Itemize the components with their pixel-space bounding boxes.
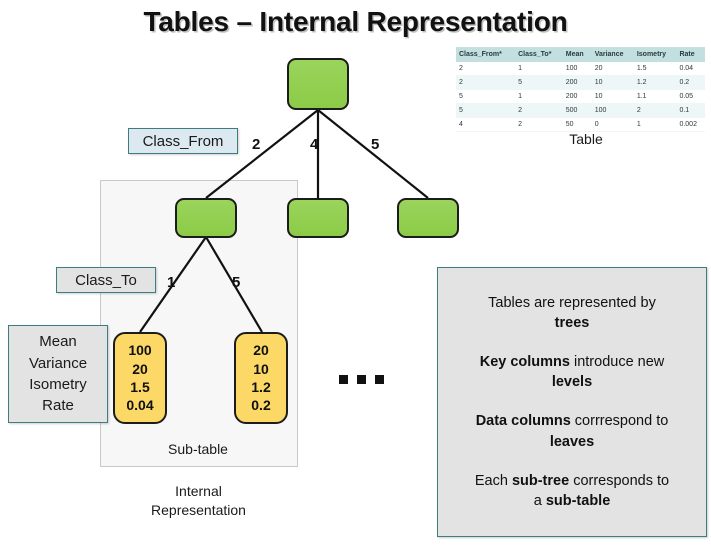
table-row: 2 1 100 20 1.5 0.04: [456, 62, 705, 76]
table-header-cell: Isometry: [634, 47, 677, 62]
summary-emphasis: Key columns: [480, 354, 570, 370]
summary-text: Tables are represented by: [488, 295, 656, 311]
summary-box: Tables are represented by trees Key colu…: [437, 267, 707, 537]
leaf-node-1[interactable]: 20 10 1.2 0.2: [234, 332, 288, 424]
page-title: Tables – Internal Representation: [0, 6, 711, 38]
table-header-cell: Rate: [676, 47, 705, 62]
caption-table: Table: [521, 131, 651, 147]
table-row: 5 2 500 100 2 0.1: [456, 104, 705, 118]
edge-label-sub-0: 1: [167, 274, 175, 291]
table-cell: 0.002: [676, 118, 705, 132]
summary-text: corrrespond to: [571, 413, 669, 429]
table-cell: 2: [515, 118, 563, 132]
table-cell: 5: [515, 76, 563, 90]
summary-emphasis: levels: [552, 374, 592, 390]
table-cell: 500: [563, 104, 592, 118]
table-cell: 1.1: [634, 90, 677, 104]
ellipsis-dot: [357, 375, 366, 384]
table-cell: 50: [563, 118, 592, 132]
table-cell: 0.2: [676, 76, 705, 90]
data-column-name: Rate: [42, 395, 74, 416]
table-cell: 10: [592, 90, 634, 104]
tree-node-class-from-5[interactable]: [397, 198, 459, 238]
table-cell: 5: [456, 90, 515, 104]
summary-text: introduce new: [570, 354, 664, 370]
summary-line-2: Key columns introduce new levels: [480, 352, 665, 393]
ellipsis-dot: [339, 375, 348, 384]
table-cell: 1.5: [634, 62, 677, 76]
tree-node-class-from-4[interactable]: [287, 198, 349, 238]
ellipsis-dot: [375, 375, 384, 384]
caption-internal-representation: Internal Representation: [141, 482, 256, 520]
tree-root-node[interactable]: [287, 58, 349, 110]
caption-internal-line1: Internal: [141, 482, 256, 501]
table-cell: 2: [634, 104, 677, 118]
table-cell: 2: [456, 62, 515, 76]
summary-line-3: Data columns corrrespond to leaves: [476, 411, 669, 452]
summary-text: Each: [475, 473, 512, 489]
edge-label-root-0: 2: [252, 136, 260, 153]
table-row: 5 1 200 10 1.1 0.05: [456, 90, 705, 104]
edge-label-root-1: 4: [310, 136, 318, 153]
data-column-name: Isometry: [29, 374, 87, 395]
caption-subtable: Sub-table: [143, 441, 253, 457]
table-cell: 10: [592, 76, 634, 90]
table-header-row: Class_From* Class_To* Mean Variance Isom…: [456, 47, 705, 62]
summary-text: a: [534, 493, 546, 509]
leaf-value: 0.2: [251, 396, 270, 414]
table-cell: 0.1: [676, 104, 705, 118]
leaf-value: 20: [132, 360, 148, 378]
callout-class-to[interactable]: Class_To: [56, 267, 156, 293]
summary-emphasis: trees: [555, 315, 590, 331]
table-cell: 4: [456, 118, 515, 132]
table-header-cell: Class_From*: [456, 47, 515, 62]
summary-emphasis: leaves: [550, 434, 594, 450]
table-row: 4 2 50 0 1 0.002: [456, 118, 705, 132]
table-cell: 200: [563, 76, 592, 90]
table-header-cell: Variance: [592, 47, 634, 62]
caption-internal-line2: Representation: [141, 501, 256, 520]
table-header-cell: Mean: [563, 47, 592, 62]
table-cell: 20: [592, 62, 634, 76]
leaf-node-0[interactable]: 100 20 1.5 0.04: [113, 332, 167, 424]
table-cell: 1: [634, 118, 677, 132]
data-column-name: Variance: [29, 353, 87, 374]
table-cell: 1: [515, 62, 563, 76]
table-header-cell: Class_To*: [515, 47, 563, 62]
leaf-value: 0.04: [126, 396, 153, 414]
edge-label-root-2: 5: [371, 136, 379, 153]
table-cell: 1: [515, 90, 563, 104]
summary-line-1: Tables are represented by trees: [488, 293, 656, 334]
summary-text: corresponds to: [569, 473, 669, 489]
summary-emphasis: sub-tree: [512, 473, 569, 489]
table-cell: 5: [456, 104, 515, 118]
table-cell: 1.2: [634, 76, 677, 90]
source-data-table: Class_From* Class_To* Mean Variance Isom…: [456, 47, 705, 132]
leaf-value: 1.5: [130, 378, 149, 396]
table-cell: 2: [456, 76, 515, 90]
leaf-value: 1.2: [251, 378, 270, 396]
table-cell: 200: [563, 90, 592, 104]
leaf-value: 10: [253, 360, 269, 378]
summary-emphasis: sub-table: [546, 493, 610, 509]
leaf-value: 100: [128, 341, 151, 359]
table-cell: 100: [563, 62, 592, 76]
table-cell: 0.04: [676, 62, 705, 76]
table-cell: 100: [592, 104, 634, 118]
callout-class-from[interactable]: Class_From: [128, 128, 238, 154]
tree-node-class-from-2[interactable]: [175, 198, 237, 238]
table-cell: 2: [515, 104, 563, 118]
callout-data-columns[interactable]: Mean Variance Isometry Rate: [8, 325, 108, 423]
table-row: 2 5 200 10 1.2 0.2: [456, 76, 705, 90]
summary-emphasis: Data columns: [476, 413, 571, 429]
leaf-value: 20: [253, 341, 269, 359]
edge-label-sub-1: 5: [232, 274, 240, 291]
ellipsis-dots: [339, 375, 384, 384]
table-cell: 0: [592, 118, 634, 132]
data-column-name: Mean: [39, 331, 77, 352]
summary-line-4: Each sub-tree corresponds to a sub-table: [475, 471, 669, 512]
table-cell: 0.05: [676, 90, 705, 104]
